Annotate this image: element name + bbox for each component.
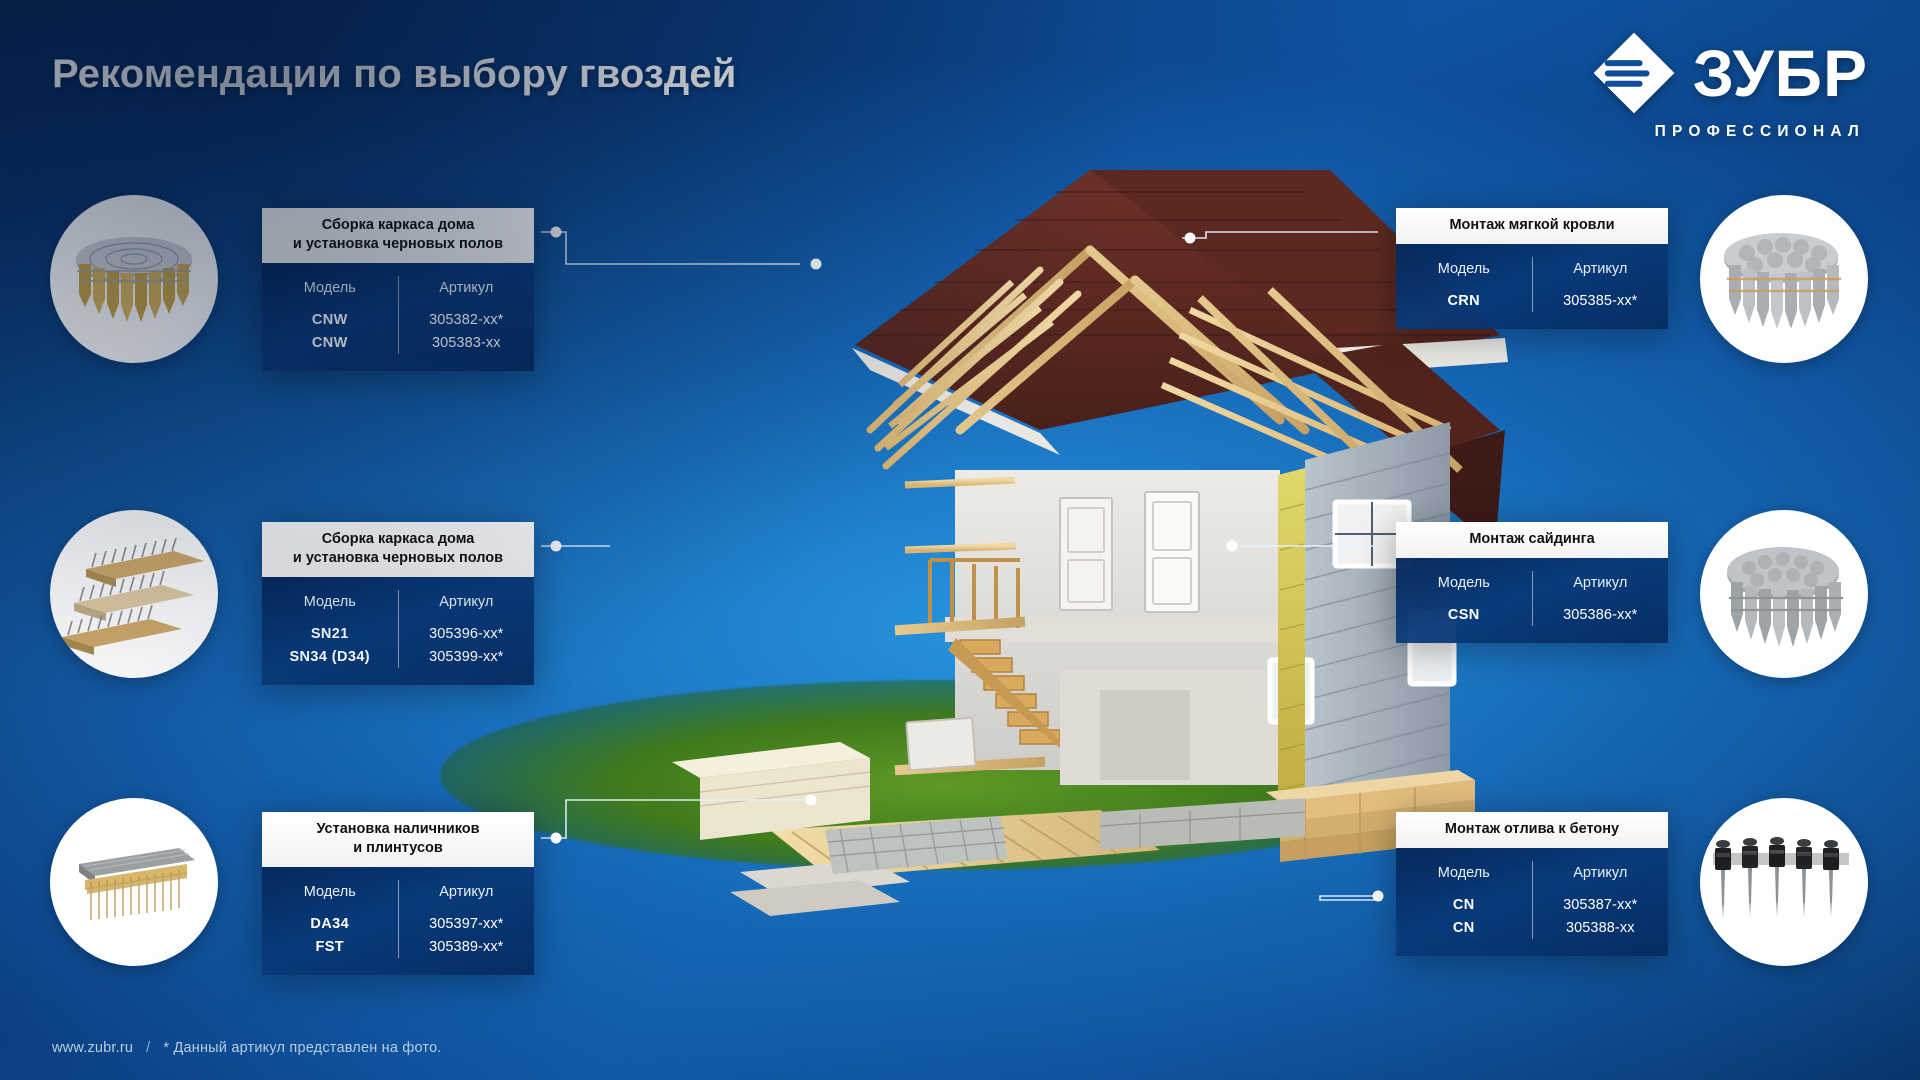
cell-model: CNW [262,308,398,331]
table-row: CSN 305386-xx* [1396,603,1668,626]
spec-table: Модель Артикул CNW 305382-xx* CNW 305383… [262,276,534,354]
card-body: Модель Артикул CSN 305386-xx* [1396,558,1668,643]
table-row: CRN 305385-xx* [1396,289,1668,312]
cell-article: 305385-xx* [1532,289,1668,312]
col-header-model: Модель [262,276,398,308]
col-header-model: Модель [262,590,398,622]
cell-article: 305386-xx* [1532,603,1668,626]
footer-separator: / [146,1040,150,1056]
col-header-article: Артикул [398,590,534,622]
cell-article: 305382-xx* [398,308,534,331]
product-image-siding-coil-nails [1700,510,1868,678]
col-header-model: Модель [1396,257,1532,289]
product-image-brad-nails [50,798,218,966]
table-header-row: Модель Артикул [262,590,534,622]
card-body: Модель Артикул CN 305387-xx* CN 305388-x… [1396,848,1668,956]
table-row: SN21 305396-xx* [262,622,534,645]
page-title: Рекомендации по выбору гвоздей [52,52,736,97]
table-row: FST 305389-xx* [262,935,534,958]
col-header-article: Артикул [398,276,534,308]
col-header-article: Артикул [1532,257,1668,289]
footer-note: * Данный артикул представлен на фото. [163,1040,441,1056]
table-row: DA34 305397-xx* [262,912,534,935]
strip-nails-paper-collated-icon [54,529,214,659]
col-header-article: Артикул [1532,571,1668,603]
card-frame-assembly-coil[interactable]: Сборка каркаса дома и установка черновых… [262,208,534,371]
card-body: Модель Артикул DA34 305397-xx* FST 30538… [262,867,534,975]
cell-article: 305383-xx [398,331,534,354]
spec-table: Модель Артикул CRN 305385-xx* [1396,257,1668,312]
spec-table: Модель Артикул SN21 305396-xx* SN34 (D34… [262,590,534,668]
table-row: CN 305387-xx* [1396,893,1668,916]
cell-article: 305388-xx [1532,916,1668,939]
card-title-line: и установка черновых полов [272,549,524,568]
siding-coil-nails-icon [1709,532,1859,657]
table-row: SN34 (D34) 305399-xx* [262,645,534,668]
table-row: CNW 305382-xx* [262,308,534,331]
cell-model: SN34 (D34) [262,645,398,668]
card-title-line: Монтаж отлива к бетону [1406,820,1658,839]
product-image-strip-nails [50,510,218,678]
brad-finish-nails-icon [59,822,209,942]
col-header-model: Модель [1396,861,1532,893]
cutaway-house-illustration [400,130,1520,930]
card-title-line: Сборка каркаса дома [272,216,524,235]
cell-article: 305397-xx* [398,912,534,935]
card-body: Модель Артикул CNW 305382-xx* CNW 305383… [262,263,534,371]
brand-wordmark: ЗУБР [1693,43,1868,104]
card-title: Сборка каркаса дома и установка черновых… [262,208,534,263]
col-header-model: Модель [1396,571,1532,603]
footer: www.zubr.ru / * Данный артикул представл… [52,1040,442,1056]
card-drip-edge-to-concrete[interactable]: Монтаж отлива к бетону Модель Артикул CN… [1396,812,1668,956]
card-title-line: Установка наличников [272,820,524,839]
card-title-line: и плинтусов [272,839,524,858]
cell-model: CSN [1396,603,1532,626]
col-header-article: Артикул [1532,861,1668,893]
cell-model: CNW [262,331,398,354]
cell-model: DA34 [262,912,398,935]
table-row: CNW 305383-xx [262,331,534,354]
table-header-row: Модель Артикул [1396,861,1668,893]
coil-nails-galvanized-icon [59,219,209,339]
brand-tagline: ПРОФЕССИОНАЛ [1655,123,1865,141]
card-title-line: Монтаж мягкой кровли [1406,216,1658,235]
card-body: Модель Артикул CRN 305385-xx* [1396,244,1668,329]
product-image-coil-nails-galvanized [50,195,218,363]
card-title-line: Монтаж сайдинга [1406,530,1658,549]
card-title: Монтаж отлива к бетону [1396,812,1668,848]
cell-model: CRN [1396,289,1532,312]
concrete-pin-nails-icon [1707,827,1862,937]
card-title-line: Сборка каркаса дома [272,530,524,549]
table-header-row: Модель Артикул [262,276,534,308]
card-title: Монтаж сайдинга [1396,522,1668,558]
spec-table: Модель Артикул CSN 305386-xx* [1396,571,1668,626]
cell-model: CN [1396,893,1532,916]
spec-table: Модель Артикул CN 305387-xx* CN 305388-x… [1396,861,1668,939]
card-frame-assembly-strip[interactable]: Сборка каркаса дома и установка черновых… [262,522,534,685]
product-image-concrete-pin-nails [1700,798,1868,966]
cell-article: 305399-xx* [398,645,534,668]
roofing-coil-nails-icon [1709,219,1859,339]
card-title-line: и установка черновых полов [272,235,524,254]
card-title: Установка наличников и плинтусов [262,812,534,867]
card-title: Сборка каркаса дома и установка черновых… [262,522,534,577]
brand-logo: ЗУБР ПРОФЕССИОНАЛ [1591,30,1868,141]
zubr-diamond-arrow-icon [1591,30,1677,116]
card-soft-roof-mounting[interactable]: Монтаж мягкой кровли Модель Артикул CRN … [1396,208,1668,329]
cell-model: SN21 [262,622,398,645]
table-header-row: Модель Артикул [262,880,534,912]
table-row: CN 305388-xx [1396,916,1668,939]
spec-table: Модель Артикул DA34 305397-xx* FST 30538… [262,880,534,958]
cell-article: 305387-xx* [1532,893,1668,916]
col-header-model: Модель [262,880,398,912]
table-header-row: Модель Артикул [1396,257,1668,289]
card-body: Модель Артикул SN21 305396-xx* SN34 (D34… [262,577,534,685]
col-header-article: Артикул [398,880,534,912]
table-header-row: Модель Артикул [1396,571,1668,603]
cell-model: CN [1396,916,1532,939]
cell-model: FST [262,935,398,958]
footer-website-link[interactable]: www.zubr.ru [52,1040,133,1056]
product-image-roofing-coil-nails [1700,195,1868,363]
card-siding-mounting[interactable]: Монтаж сайдинга Модель Артикул CSN 30538… [1396,522,1668,643]
cell-article: 305389-xx* [398,935,534,958]
card-title: Монтаж мягкой кровли [1396,208,1668,244]
cell-article: 305396-xx* [398,622,534,645]
infographic-canvas: Рекомендации по выбору гвоздей ЗУБР ПРОФ… [0,0,1920,1080]
card-trim-and-baseboard[interactable]: Установка наличников и плинтусов Модель … [262,812,534,975]
